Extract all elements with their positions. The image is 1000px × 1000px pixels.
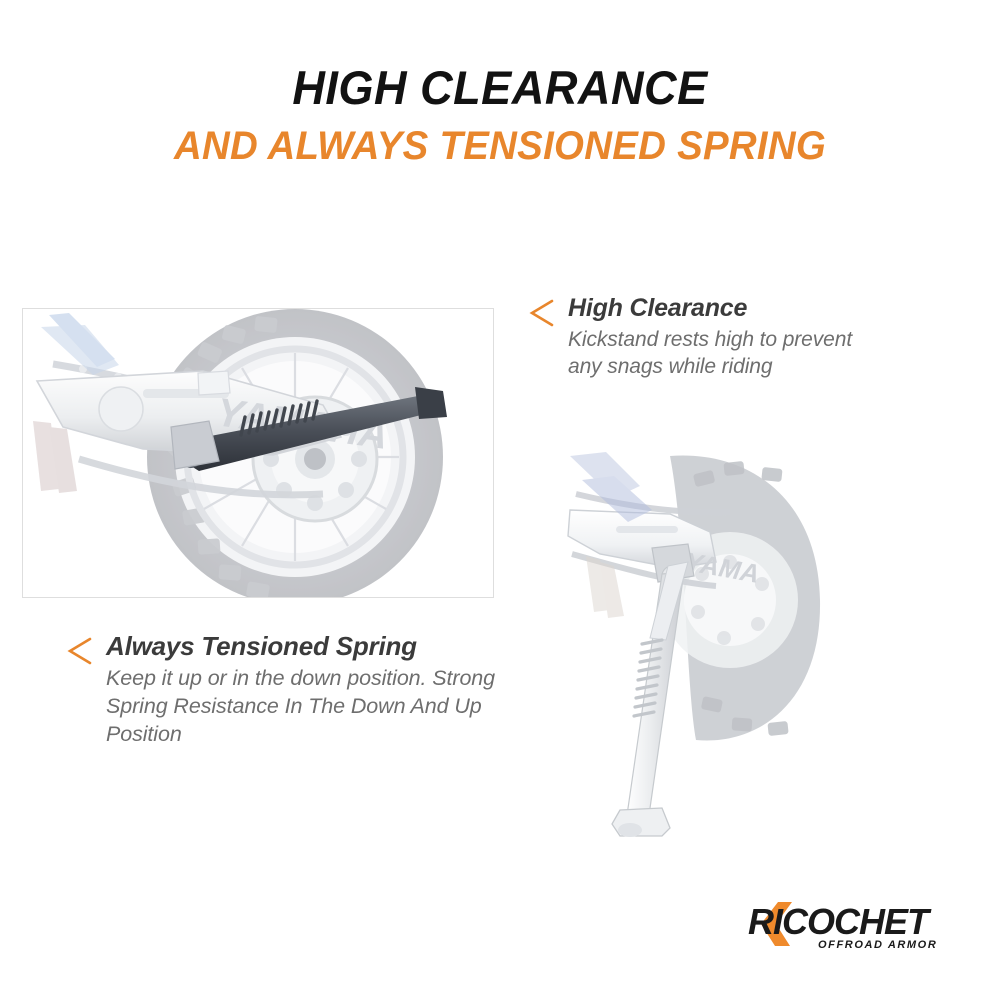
headline-block: HIGH CLEARANCE AND ALWAYS TENSIONED SPRI… — [0, 62, 1000, 169]
page-subtitle: AND ALWAYS TENSIONED SPRING — [20, 123, 980, 169]
feature-title: Always Tensioned Spring — [106, 632, 496, 661]
infographic-page: HIGH CLEARANCE AND ALWAYS TENSIONED SPRI… — [0, 0, 1000, 1000]
feature-description: Kickstand rests high to prevent any snag… — [568, 326, 858, 381]
photo-kickstand-down: YAMA — [566, 450, 822, 842]
chevron-left-icon — [528, 298, 554, 328]
feature-always-tensioned-spring: Always Tensioned Spring Keep it up or in… — [66, 632, 496, 749]
logo-wordmark: RICOCHET — [748, 901, 932, 942]
logo-tagline: OFFROAD ARMOR — [818, 939, 937, 951]
feature-description: Keep it up or in the down position. Stro… — [106, 665, 496, 749]
page-title: HIGH CLEARANCE — [20, 62, 980, 115]
feature-high-clearance: High Clearance Kickstand rests high to p… — [528, 294, 858, 381]
photo-kickstand-up: YAMAHA — [22, 308, 494, 598]
kickstand-up-illustration: YAMAHA — [23, 309, 493, 597]
chevron-left-icon — [66, 636, 92, 666]
kickstand-down-illustration: YAMA — [566, 450, 822, 842]
brand-logo: RICOCHET OFFROAD ARMOR — [748, 898, 953, 952]
feature-title: High Clearance — [568, 294, 858, 322]
